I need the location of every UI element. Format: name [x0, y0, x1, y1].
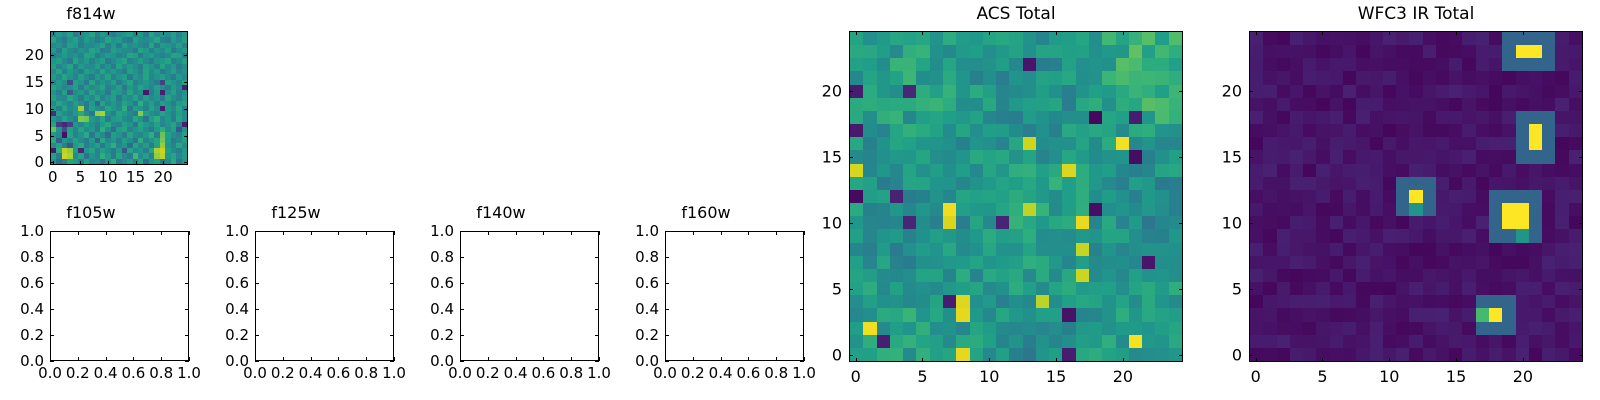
y-tick-mark — [595, 361, 599, 362]
y-tick-mark — [1249, 355, 1253, 356]
x-tick-mark — [338, 231, 339, 235]
y-tick-mark — [665, 231, 669, 232]
y-tick-label: 0 — [820, 346, 842, 365]
y-tick-mark — [390, 283, 394, 284]
y-tick-label: 5 — [1220, 280, 1242, 299]
y-tick-mark — [1179, 91, 1183, 92]
y-tick-label: 0.4 — [615, 300, 659, 318]
y-tick-mark — [185, 361, 189, 362]
y-tick-label: 0.8 — [0, 248, 44, 266]
x-tick-mark — [106, 357, 107, 361]
x-tick-label: 15 — [1046, 367, 1066, 386]
x-tick-label: 0.6 — [736, 364, 760, 382]
x-tick-label: 0.6 — [531, 364, 555, 382]
y-tick-label: 0.8 — [615, 248, 659, 266]
x-tick-mark — [136, 31, 137, 35]
y-tick-mark — [184, 136, 188, 137]
panel-f160w: f160w 0.00.20.40.60.81.00.00.20.40.60.81… — [615, 190, 825, 400]
y-tick-mark — [50, 109, 54, 110]
x-tick-mark — [163, 31, 164, 35]
panel-wfc3-ir-total: WFC3 IR Total 0510152005101520 — [1220, 0, 1600, 400]
x-tick-mark — [599, 231, 600, 235]
x-tick-mark — [1056, 358, 1057, 362]
x-tick-mark — [776, 357, 777, 361]
x-tick-mark — [1322, 358, 1323, 362]
x-tick-label: 0.4 — [299, 364, 323, 382]
x-tick-mark — [922, 31, 923, 35]
panel-acs-total: ACS Total 0510152005101520 — [820, 0, 1200, 400]
axes-f814w — [50, 31, 188, 165]
x-tick-label: 0.8 — [559, 364, 583, 382]
y-tick-mark — [460, 361, 464, 362]
y-tick-label: 10 — [0, 100, 44, 118]
x-tick-mark — [922, 358, 923, 362]
y-tick-mark — [849, 91, 853, 92]
y-tick-mark — [800, 283, 804, 284]
y-tick-label: 1.0 — [0, 222, 44, 240]
y-tick-mark — [255, 309, 259, 310]
y-tick-mark — [185, 309, 189, 310]
y-tick-label: 0.8 — [410, 248, 454, 266]
y-tick-label: 1.0 — [410, 222, 454, 240]
x-tick-label: 0.2 — [476, 364, 500, 382]
x-tick-mark — [543, 231, 544, 235]
panel-title-wfc3-ir-total: WFC3 IR Total — [1249, 4, 1583, 24]
x-tick-label: 0.4 — [504, 364, 528, 382]
y-tick-mark — [1249, 91, 1253, 92]
y-tick-label: 20 — [0, 46, 44, 64]
x-tick-mark — [106, 231, 107, 235]
y-tick-label: 20 — [1220, 81, 1242, 100]
x-tick-mark — [366, 231, 367, 235]
axes-f140w — [460, 231, 599, 361]
x-tick-mark — [366, 357, 367, 361]
y-tick-label: 0.4 — [0, 300, 44, 318]
axes-f125w — [255, 231, 394, 361]
x-tick-mark — [394, 231, 395, 235]
y-tick-mark — [1179, 157, 1183, 158]
x-tick-mark — [1456, 31, 1457, 35]
x-tick-label: 20 — [1113, 367, 1133, 386]
x-tick-mark — [1123, 31, 1124, 35]
y-tick-mark — [1249, 223, 1253, 224]
x-tick-label: 0.2 — [681, 364, 705, 382]
y-tick-mark — [390, 257, 394, 258]
image-wfc3-ir-total — [1250, 32, 1582, 361]
x-tick-mark — [748, 231, 749, 235]
y-tick-label: 10 — [820, 213, 842, 232]
x-tick-mark — [108, 31, 109, 35]
y-tick-mark — [800, 361, 804, 362]
x-tick-mark — [1056, 31, 1057, 35]
y-tick-mark — [255, 335, 259, 336]
y-tick-label: 0.8 — [205, 248, 249, 266]
y-tick-mark — [849, 223, 853, 224]
y-tick-mark — [184, 162, 188, 163]
x-tick-mark — [748, 357, 749, 361]
x-tick-mark — [721, 231, 722, 235]
y-tick-label: 10 — [1220, 213, 1242, 232]
y-tick-mark — [1249, 289, 1253, 290]
panel-title-f105w: f105w — [0, 203, 196, 222]
x-tick-mark — [543, 357, 544, 361]
x-tick-mark — [1523, 31, 1524, 35]
x-tick-mark — [571, 231, 572, 235]
y-tick-mark — [50, 309, 54, 310]
axes-f105w — [50, 231, 189, 361]
x-tick-mark — [1389, 31, 1390, 35]
x-tick-mark — [78, 231, 79, 235]
y-tick-label: 0.6 — [0, 274, 44, 292]
x-tick-mark — [856, 31, 857, 35]
x-tick-label: 0.8 — [354, 364, 378, 382]
y-tick-label: 0.2 — [615, 326, 659, 344]
y-tick-mark — [255, 231, 259, 232]
x-tick-mark — [1456, 358, 1457, 362]
y-tick-mark — [50, 257, 54, 258]
y-tick-mark — [595, 231, 599, 232]
y-tick-label: 0.6 — [410, 274, 454, 292]
y-tick-label: 0.0 — [205, 352, 249, 370]
y-tick-mark — [1179, 223, 1183, 224]
x-tick-label: 10 — [979, 367, 999, 386]
x-tick-mark — [311, 357, 312, 361]
x-tick-label: 1.0 — [587, 364, 611, 382]
y-tick-mark — [1579, 157, 1583, 158]
panel-title-f160w: f160w — [601, 203, 811, 222]
x-tick-mark — [571, 357, 572, 361]
image-f814w — [51, 32, 187, 164]
x-tick-mark — [133, 231, 134, 235]
y-tick-mark — [1579, 223, 1583, 224]
y-tick-label: 0 — [0, 153, 44, 171]
x-tick-label: 5 — [76, 168, 86, 186]
x-tick-label: 0 — [48, 168, 58, 186]
x-tick-label: 0.8 — [149, 364, 173, 382]
y-tick-mark — [50, 335, 54, 336]
axes-f160w — [665, 231, 804, 361]
y-tick-label: 5 — [820, 280, 842, 299]
y-tick-label: 0.0 — [0, 352, 44, 370]
x-tick-label: 10 — [1379, 367, 1399, 386]
y-tick-mark — [849, 157, 853, 158]
x-tick-label: 1.0 — [382, 364, 406, 382]
x-tick-mark — [189, 357, 190, 361]
y-tick-label: 15 — [0, 73, 44, 91]
y-tick-mark — [185, 283, 189, 284]
y-tick-mark — [390, 361, 394, 362]
x-tick-mark — [599, 357, 600, 361]
y-tick-mark — [50, 361, 54, 362]
x-tick-mark — [108, 161, 109, 165]
y-tick-mark — [185, 257, 189, 258]
x-tick-label: 0.4 — [94, 364, 118, 382]
y-tick-mark — [390, 231, 394, 232]
x-tick-mark — [856, 358, 857, 362]
x-tick-mark — [163, 161, 164, 165]
x-tick-label: 1.0 — [792, 364, 816, 382]
y-tick-mark — [665, 283, 669, 284]
y-tick-mark — [595, 257, 599, 258]
y-tick-mark — [1579, 91, 1583, 92]
y-tick-label: 15 — [1220, 147, 1242, 166]
x-tick-mark — [1256, 31, 1257, 35]
y-tick-mark — [800, 231, 804, 232]
x-tick-label: 20 — [154, 168, 173, 186]
x-tick-mark — [488, 231, 489, 235]
y-tick-mark — [50, 283, 54, 284]
y-tick-mark — [665, 335, 669, 336]
x-tick-label: 15 — [126, 168, 145, 186]
y-tick-mark — [460, 309, 464, 310]
x-tick-label: 5 — [1317, 367, 1327, 386]
x-tick-mark — [1389, 358, 1390, 362]
y-tick-mark — [849, 289, 853, 290]
y-tick-label: 0.2 — [410, 326, 454, 344]
axes-wfc3-ir-total — [1249, 31, 1583, 362]
x-tick-label: 15 — [1446, 367, 1466, 386]
panel-f105w: f105w 0.00.20.40.60.81.00.00.20.40.60.81… — [0, 190, 210, 400]
y-tick-label: 20 — [820, 81, 842, 100]
y-tick-label: 0.4 — [205, 300, 249, 318]
y-tick-mark — [50, 162, 54, 163]
y-tick-mark — [50, 136, 54, 137]
x-tick-mark — [136, 161, 137, 165]
panel-f814w: f814w 0510152005101520 — [0, 0, 210, 185]
panel-title-f140w: f140w — [396, 203, 606, 222]
x-tick-label: 0.6 — [121, 364, 145, 382]
x-tick-mark — [80, 31, 81, 35]
x-tick-mark — [693, 231, 694, 235]
y-tick-label: 15 — [820, 147, 842, 166]
x-tick-label: 0.8 — [764, 364, 788, 382]
y-tick-mark — [665, 257, 669, 258]
y-tick-mark — [595, 283, 599, 284]
y-tick-mark — [185, 231, 189, 232]
y-tick-mark — [255, 361, 259, 362]
x-tick-mark — [161, 231, 162, 235]
y-tick-mark — [800, 335, 804, 336]
panel-title-f125w: f125w — [191, 203, 401, 222]
x-tick-mark — [283, 231, 284, 235]
y-tick-label: 1.0 — [615, 222, 659, 240]
y-tick-mark — [185, 335, 189, 336]
x-tick-mark — [804, 231, 805, 235]
y-tick-mark — [1179, 355, 1183, 356]
x-tick-mark — [804, 357, 805, 361]
y-tick-mark — [50, 55, 54, 56]
y-tick-mark — [255, 283, 259, 284]
x-tick-mark — [989, 358, 990, 362]
x-tick-mark — [1523, 358, 1524, 362]
x-tick-label: 5 — [917, 367, 927, 386]
panel-title-f814w: f814w — [0, 4, 196, 23]
y-tick-label: 0.4 — [410, 300, 454, 318]
y-tick-label: 0.0 — [615, 352, 659, 370]
y-tick-mark — [390, 335, 394, 336]
image-acs-total — [850, 32, 1182, 361]
x-tick-mark — [78, 357, 79, 361]
x-tick-mark — [189, 231, 190, 235]
y-tick-mark — [184, 82, 188, 83]
y-tick-mark — [50, 82, 54, 83]
x-tick-mark — [693, 357, 694, 361]
y-tick-mark — [665, 309, 669, 310]
y-tick-mark — [595, 309, 599, 310]
y-tick-mark — [1179, 289, 1183, 290]
panel-f140w: f140w 0.00.20.40.60.81.00.00.20.40.60.81… — [410, 190, 620, 400]
y-tick-label: 1.0 — [205, 222, 249, 240]
panel-title-acs-total: ACS Total — [849, 4, 1183, 24]
x-tick-label: 1.0 — [177, 364, 201, 382]
x-tick-label: 20 — [1513, 367, 1533, 386]
x-tick-mark — [161, 357, 162, 361]
x-tick-label: 0 — [1251, 367, 1261, 386]
x-tick-mark — [488, 357, 489, 361]
x-tick-label: 10 — [98, 168, 117, 186]
x-tick-mark — [80, 161, 81, 165]
x-tick-label: 0 — [851, 367, 861, 386]
x-tick-label: 0.4 — [709, 364, 733, 382]
y-tick-mark — [460, 335, 464, 336]
x-tick-label: 0.2 — [271, 364, 295, 382]
x-tick-mark — [283, 357, 284, 361]
x-tick-label: 0.6 — [326, 364, 350, 382]
x-tick-mark — [133, 357, 134, 361]
y-tick-mark — [665, 361, 669, 362]
y-tick-mark — [460, 257, 464, 258]
panel-f125w: f125w 0.00.20.40.60.81.00.00.20.40.60.81… — [205, 190, 415, 400]
y-tick-mark — [390, 309, 394, 310]
y-tick-mark — [255, 257, 259, 258]
y-tick-label: 0.2 — [0, 326, 44, 344]
x-tick-mark — [1256, 358, 1257, 362]
x-tick-mark — [311, 231, 312, 235]
y-tick-mark — [1249, 157, 1253, 158]
y-tick-label: 0.2 — [205, 326, 249, 344]
y-tick-mark — [595, 335, 599, 336]
axes-acs-total — [849, 31, 1183, 362]
x-tick-mark — [776, 231, 777, 235]
x-tick-mark — [516, 357, 517, 361]
y-tick-mark — [460, 231, 464, 232]
y-tick-mark — [460, 283, 464, 284]
y-tick-label: 0.6 — [205, 274, 249, 292]
y-tick-mark — [800, 257, 804, 258]
y-tick-label: 0 — [1220, 346, 1242, 365]
y-tick-mark — [1579, 289, 1583, 290]
y-tick-mark — [184, 55, 188, 56]
y-tick-mark — [184, 109, 188, 110]
x-tick-mark — [1322, 31, 1323, 35]
y-tick-label: 0.0 — [410, 352, 454, 370]
x-tick-mark — [721, 357, 722, 361]
x-tick-mark — [394, 357, 395, 361]
y-tick-mark — [50, 231, 54, 232]
x-tick-mark — [338, 357, 339, 361]
y-tick-mark — [849, 355, 853, 356]
y-tick-mark — [1579, 355, 1583, 356]
x-tick-mark — [53, 31, 54, 35]
x-tick-mark — [516, 231, 517, 235]
x-tick-mark — [1123, 358, 1124, 362]
y-tick-label: 0.6 — [615, 274, 659, 292]
x-tick-mark — [989, 31, 990, 35]
x-tick-label: 0.2 — [66, 364, 90, 382]
y-tick-mark — [800, 309, 804, 310]
y-tick-label: 5 — [0, 127, 44, 145]
